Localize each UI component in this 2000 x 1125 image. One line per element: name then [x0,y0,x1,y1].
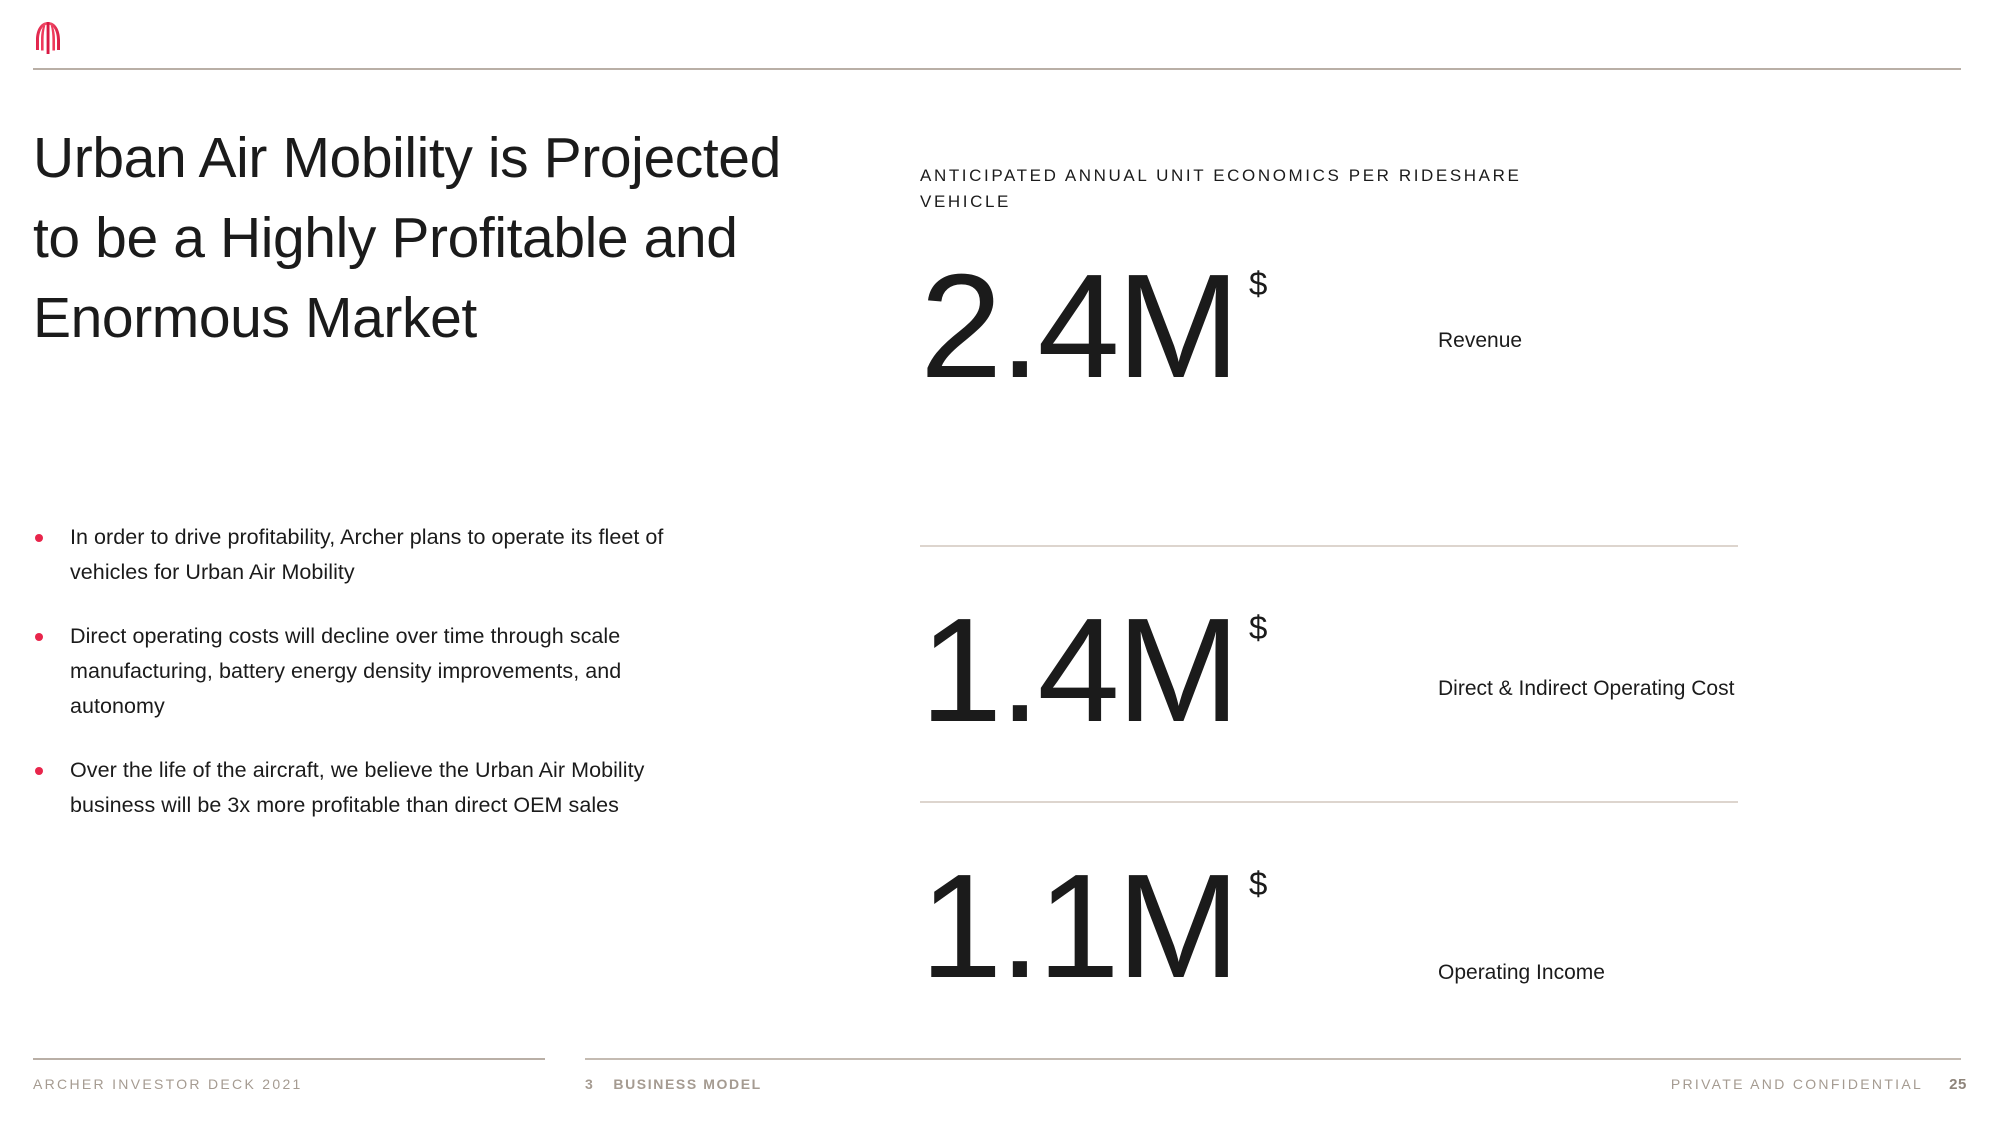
stat-row: 2.4M $ Revenue [920,255,1930,513]
stat-value: 1.1M $ [920,861,1267,993]
slide: Urban Air Mobility is Projected to be a … [0,0,2000,1125]
stats-section-heading: ANTICIPATED ANNUAL UNIT ECONOMICS PER RI… [920,163,1540,215]
stat-number: 2.4M [920,261,1237,393]
stat-divider [920,801,1738,803]
bullet-list: In order to drive profitability, Archer … [33,520,693,852]
bullet-dot-icon [35,633,43,641]
archer-logo-icon [33,20,63,56]
footer-deck-name: ARCHER INVESTOR DECK 2021 [33,1076,303,1092]
stat-value: 2.4M $ [920,261,1267,393]
currency-symbol: $ [1249,267,1267,300]
list-item: Over the life of the aircraft, we believ… [33,753,693,823]
stat-label: Direct & Indirect Operating Cost [1438,675,1738,702]
stat-number: 1.4M [920,605,1237,737]
header-divider [33,68,1961,70]
footer-right: PRIVATE AND CONFIDENTIAL 25 [1671,1076,1967,1093]
footer-divider-right [585,1058,1961,1060]
bullet-dot-icon [35,534,43,542]
currency-symbol: $ [1249,611,1267,644]
footer-section-name: BUSINESS MODEL [613,1076,761,1092]
list-item: In order to drive profitability, Archer … [33,520,693,590]
stat-label: Operating Income [1438,959,1738,986]
footer-section-number: 3 [585,1076,594,1092]
footer-divider-left [33,1058,545,1060]
stat-value: 1.4M $ [920,605,1267,737]
footer-page-number: 25 [1949,1076,1967,1093]
bullet-text: Over the life of the aircraft, we believ… [70,753,693,823]
page-title: Urban Air Mobility is Projected to be a … [33,118,823,358]
bullet-text: Direct operating costs will decline over… [70,619,693,724]
stat-row: 1.4M $ Direct & Indirect Operating Cost [920,513,1930,771]
stat-divider [920,545,1738,547]
stat-number: 1.1M [920,861,1237,993]
list-item: Direct operating costs will decline over… [33,619,693,724]
stat-label: Revenue [1438,327,1738,354]
footer-confidentiality: PRIVATE AND CONFIDENTIAL [1671,1076,1923,1092]
bullet-dot-icon [35,767,43,775]
footer-section: 3 BUSINESS MODEL [585,1076,762,1092]
currency-symbol: $ [1249,867,1267,900]
bullet-text: In order to drive profitability, Archer … [70,520,693,590]
stat-row: 1.1M $ Operating Income [920,771,1930,1029]
stats-list: 2.4M $ Revenue 1.4M $ Direct & Indirect … [920,255,1930,1029]
